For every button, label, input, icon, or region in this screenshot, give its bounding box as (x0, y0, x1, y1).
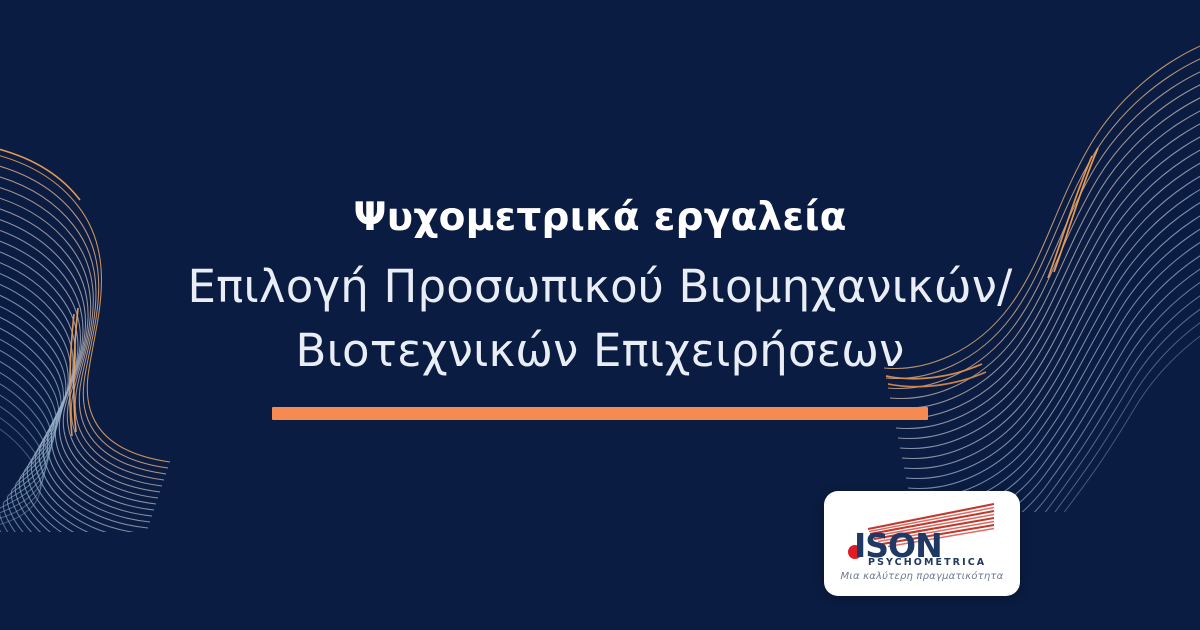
logo-tagline: Μια καλύτερη πραγματικότητα (824, 571, 1020, 582)
logo-subtitle: PSYCHOMETRICA (868, 557, 986, 568)
title-line-1: Επιλογή Προσωπικού Βιομηχανικών/ (130, 255, 1070, 319)
logo-artwork: ISON PSYCHOMETRICA Μια καλύτερη πραγματι… (824, 491, 1020, 596)
eyebrow-heading: Ψυχομετρικά εργαλεία (353, 196, 846, 241)
title-line-2: Βιοτεχνικών Επιχειρήσεων (130, 319, 1070, 383)
page-title: Επιλογή Προσωπικού Βιομηχανικών/ Βιοτεχν… (130, 255, 1070, 383)
promo-banner: Ψυχομετρικά εργαλεία Επιλογή Προσωπικού … (0, 0, 1200, 630)
banner-content: Ψυχομετρικά εργαλεία Επιλογή Προσωπικού … (0, 0, 1200, 630)
accent-rule (272, 407, 928, 420)
ison-logo-badge: ISON PSYCHOMETRICA Μια καλύτερη πραγματι… (824, 491, 1020, 596)
